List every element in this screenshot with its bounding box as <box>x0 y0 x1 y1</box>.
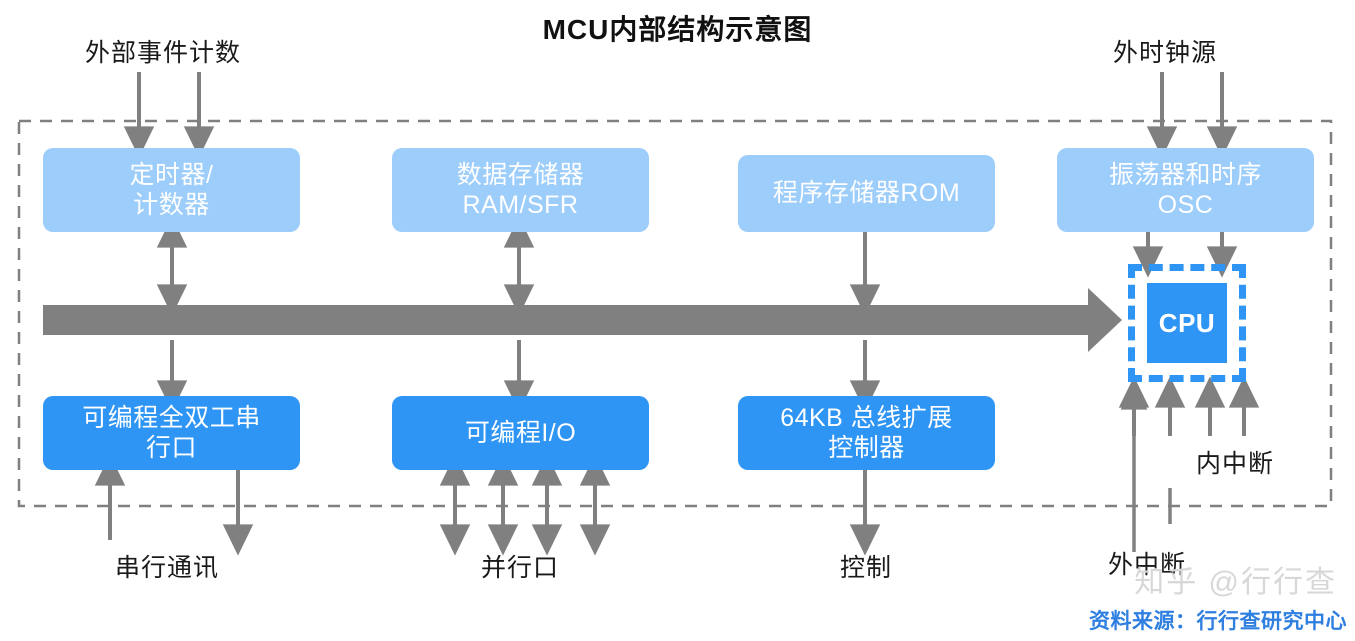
block-timer-counter-label: 定时器/ 计数器 <box>130 160 214 221</box>
label-parallel-port: 并行口 <box>481 548 559 584</box>
arrows-internal-interrupt <box>1134 392 1244 436</box>
diagram-canvas: MCU内部结构示意图 <box>0 0 1355 641</box>
block-cpu[interactable]: CPU <box>1128 264 1246 382</box>
label-external-event-count: 外部事件计数 <box>85 33 241 69</box>
block-oscillator-label: 振荡器和时序 OSC <box>1109 160 1262 221</box>
label-control: 控制 <box>840 548 892 584</box>
cpu-core-label: CPU <box>1147 283 1227 363</box>
label-external-clock-source: 外时钟源 <box>1113 33 1217 69</box>
block-oscillator[interactable]: 振荡器和时序 OSC <box>1057 148 1314 232</box>
system-bus <box>43 288 1122 352</box>
block-data-memory-label: 数据存储器 RAM/SFR <box>457 160 585 221</box>
block-programmable-io-label: 可编程I/O <box>465 418 576 449</box>
block-bus-expansion-controller-label: 64KB 总线扩展 控制器 <box>780 403 953 464</box>
label-internal-interrupt: 内中断 <box>1196 444 1274 480</box>
source-note: 资料来源：行行查研究中心 <box>1089 605 1347 635</box>
block-program-memory[interactable]: 程序存储器ROM <box>738 155 995 232</box>
block-timer-counter[interactable]: 定时器/ 计数器 <box>43 148 300 232</box>
block-data-memory[interactable]: 数据存储器 RAM/SFR <box>392 148 649 232</box>
block-serial-port-label: 可编程全双工串 行口 <box>82 403 261 464</box>
label-serial-communication: 串行通讯 <box>115 548 219 584</box>
watermark: 知乎 @行行查 <box>1134 557 1337 601</box>
block-programmable-io[interactable]: 可编程I/O <box>392 396 649 470</box>
block-serial-port[interactable]: 可编程全双工串 行口 <box>43 396 300 470</box>
block-bus-expansion-controller[interactable]: 64KB 总线扩展 控制器 <box>738 396 995 470</box>
block-program-memory-label: 程序存储器ROM <box>773 178 960 209</box>
